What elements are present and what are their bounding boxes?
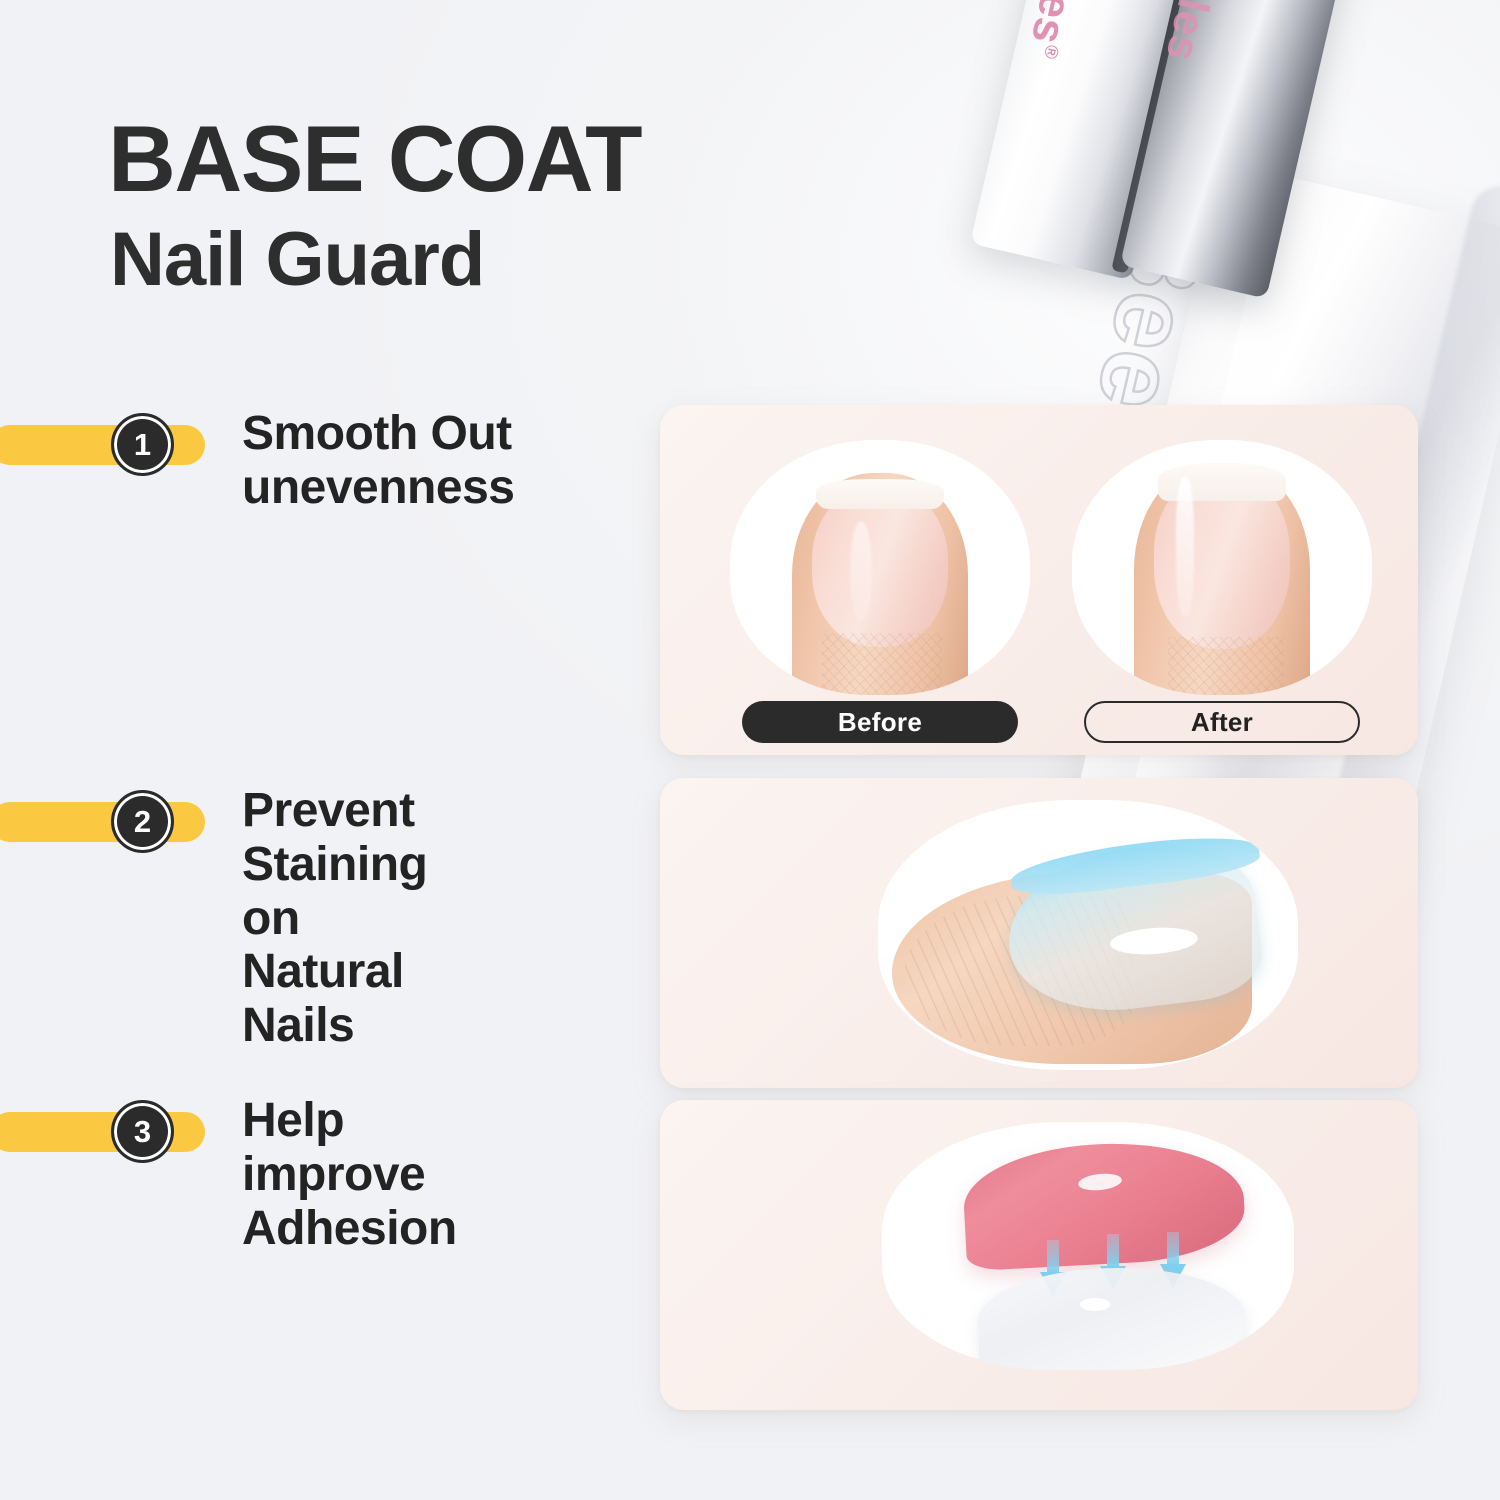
before-image <box>730 440 1030 695</box>
feature-accent-bar <box>0 425 205 465</box>
nail-highlight-icon <box>1176 477 1194 617</box>
after-image <box>1072 440 1372 695</box>
feature-accent-bar <box>0 1112 205 1152</box>
feature-number-badge: 3 <box>111 1100 174 1163</box>
page-title: BASE COAT <box>108 112 641 206</box>
base-coat-layer <box>976 1263 1247 1370</box>
page-subtitle: Nail Guard <box>110 222 484 298</box>
nail-tip <box>816 479 944 509</box>
nail-highlight-icon <box>850 521 872 621</box>
feature-label: Smooth Out unevenness <box>242 407 514 515</box>
coat-illustration <box>878 800 1298 1070</box>
feature-number-badge: 2 <box>111 790 174 853</box>
skin-texture <box>1168 637 1284 695</box>
infographic-stage: Beetles CO 0.5 fl.oz Beetles Beetles® Be… <box>0 0 1500 1500</box>
feature-label: Help improve Adhesion <box>242 1094 457 1255</box>
skin-texture <box>822 633 942 695</box>
nail-plate <box>812 487 948 647</box>
base-coat-highlight-icon <box>1080 1298 1110 1311</box>
feature-label: Prevent Staining on Natural Nails <box>242 784 427 1053</box>
finger-illustration <box>792 473 968 695</box>
feature-accent-bar <box>0 802 205 842</box>
before-label-pill: Before <box>742 701 1018 743</box>
comparison-card: Before After <box>660 405 1418 755</box>
staining-protection-card <box>660 778 1418 1088</box>
adhesion-card <box>660 1100 1418 1410</box>
feature-number-badge: 1 <box>111 413 174 476</box>
after-label-pill: After <box>1084 701 1360 743</box>
adhesion-illustration <box>882 1122 1294 1370</box>
finger-illustration <box>1134 463 1310 695</box>
